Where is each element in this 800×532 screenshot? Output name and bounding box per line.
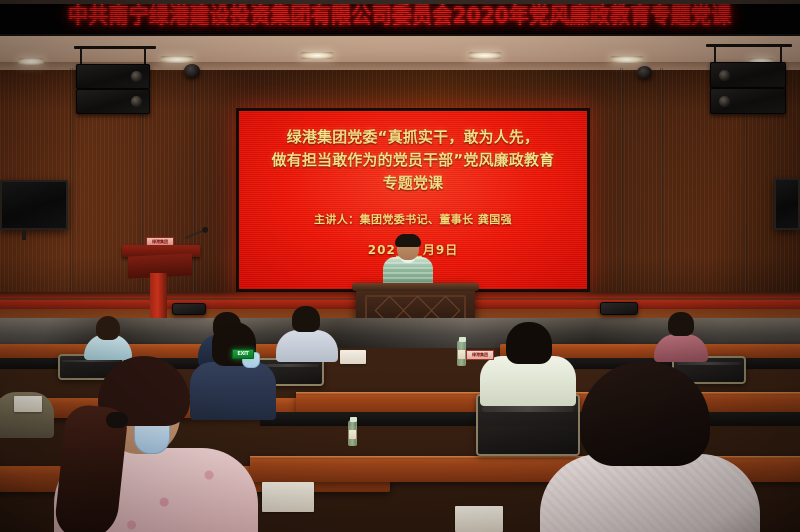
speaker-driver <box>719 96 730 107</box>
audience-member-foreground-left <box>48 356 258 532</box>
ceiling-downlight <box>300 52 334 59</box>
led-ticker-text: 中共南宁绿港建设投资集团有限公司委员会2020年党风廉政教育专题党课 <box>68 6 732 28</box>
ceiling-camera-left <box>184 64 200 78</box>
audience-member <box>276 310 338 360</box>
person-torso <box>276 330 338 362</box>
person-hair <box>506 322 552 364</box>
bottle-cap <box>459 337 466 342</box>
person-hair <box>292 306 320 332</box>
speaker-cabinet <box>710 62 786 88</box>
loudspeaker-array-right <box>706 44 792 124</box>
rostrum-top-lip <box>352 283 479 291</box>
wall-panel-seam <box>70 68 73 330</box>
flat-panel-tv-left <box>0 180 68 230</box>
person-hair-tie <box>106 412 128 428</box>
water-bottle-icon <box>348 420 357 446</box>
lectern-plaque-text: 绿港集团 <box>152 240 168 244</box>
speaker-driver <box>719 70 730 81</box>
speaker-cabinet <box>76 64 150 89</box>
wall-panel-seam <box>620 68 623 330</box>
led-ticker-banner: 中共南宁绿港建设投资集团有限公司委员会2020年党风廉政教育专题党课 <box>0 0 800 36</box>
audience-member <box>84 318 132 358</box>
conference-hall-photo: 绿港集团党委“真抓实干，敢为人先， 做有担当敢作为的党员干部”党风廉政教育 专题… <box>0 0 800 532</box>
ceiling-downlight <box>18 58 44 65</box>
notebook-icon <box>262 482 314 512</box>
audience-member-foreground-right <box>540 362 760 532</box>
screen-title-line-1: 绿港集团党委“真抓实干，敢为人先， <box>247 126 580 149</box>
water-bottle-icon <box>457 340 466 366</box>
bottle-label <box>349 430 356 439</box>
flat-panel-tv-right <box>774 178 800 230</box>
exit-sign-label: EXIT <box>237 352 248 357</box>
banner-top-frame <box>0 0 800 4</box>
desk-nameplate: 绿港集团 <box>466 350 494 360</box>
audience-member <box>654 314 708 360</box>
ceiling-camera-right <box>637 66 652 79</box>
notebook-icon <box>455 506 503 532</box>
person-hair <box>668 312 694 336</box>
bottle-label <box>458 350 465 359</box>
person-hair <box>96 316 120 340</box>
ceiling-downlight <box>160 56 194 63</box>
ceiling-downlight <box>610 56 644 63</box>
stage-floor-monitor-right <box>600 302 638 315</box>
loudspeaker-array-left <box>74 46 156 124</box>
speaker-cabinet <box>76 89 150 114</box>
wall-panel-seam <box>660 68 663 330</box>
tv-mount-left <box>22 230 26 240</box>
speaker-cabinet <box>710 88 786 114</box>
person-hair <box>580 362 710 466</box>
screen-title: 绿港集团党委“真抓实干，敢为人先， 做有担当敢作为的党员干部”党风廉政教育 专题… <box>239 126 587 195</box>
exit-sign: EXIT <box>232 349 254 359</box>
ceiling-downlight <box>468 52 502 59</box>
speaker-driver <box>131 96 142 107</box>
person-torso <box>654 334 708 362</box>
speaker-driver <box>131 71 142 82</box>
screen-title-line-3: 专题党课 <box>247 172 580 195</box>
screen-title-line-2: 做有担当敢作为的党员干部”党风廉政教育 <box>247 149 580 172</box>
presenter-hair <box>395 234 421 247</box>
screen-speaker-line: 主讲人：集团党委书记、董事长 龚国强 <box>239 211 587 227</box>
notebook-icon <box>340 350 366 364</box>
desk-nameplate-text: 绿港集团 <box>472 353 488 357</box>
notebook-icon <box>14 396 42 412</box>
bottle-cap <box>350 417 357 422</box>
